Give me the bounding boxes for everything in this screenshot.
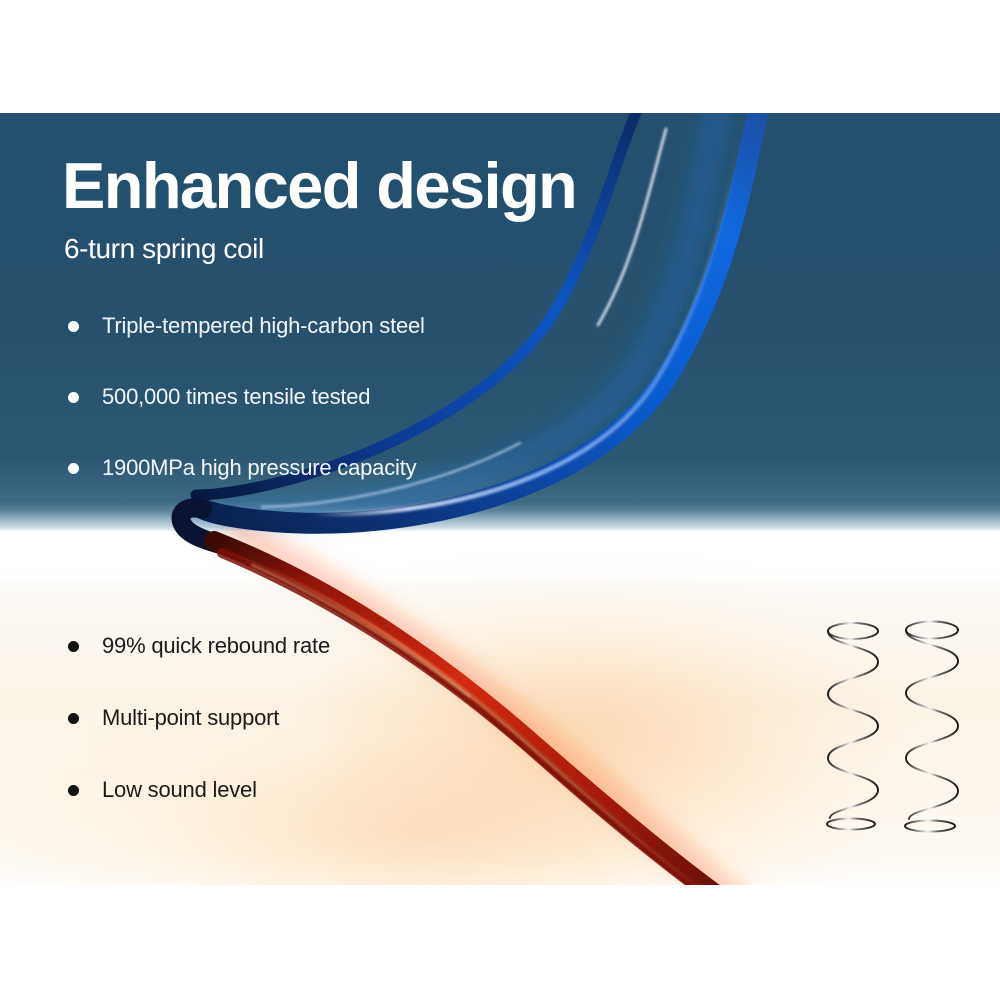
bullet-dot-icon <box>68 463 79 474</box>
poster-content-card: Enhanced design 6-turn spring coil Tripl… <box>0 113 1000 885</box>
bullet-dot-icon <box>68 713 79 724</box>
feature-label: 1900MPa high pressure capacity <box>102 455 416 480</box>
feature-label: Triple-tempered high-carbon steel <box>102 313 425 338</box>
feature-list-top: Triple-tempered high-carbon steel 500,00… <box>60 313 425 526</box>
feature-label: Multi-point support <box>102 705 279 730</box>
page-title: Enhanced design <box>62 153 576 218</box>
list-item: Triple-tempered high-carbon steel <box>60 313 425 339</box>
page-subtitle: 6-turn spring coil <box>64 233 264 265</box>
bullet-dot-icon <box>68 641 79 652</box>
feature-label: 500,000 times tensile tested <box>102 384 370 409</box>
list-item: 500,000 times tensile tested <box>60 384 425 410</box>
feature-label: 99% quick rebound rate <box>102 633 330 658</box>
feature-label: Low sound level <box>102 777 257 802</box>
list-item: 1900MPa high pressure capacity <box>60 455 425 481</box>
bullet-dot-icon <box>68 392 79 403</box>
list-item: 99% quick rebound rate <box>60 633 330 659</box>
list-item: Multi-point support <box>60 705 330 731</box>
list-item: Low sound level <box>60 777 330 803</box>
product-feature-poster: Enhanced design 6-turn spring coil Tripl… <box>0 0 1000 1000</box>
feature-list-bottom: 99% quick rebound rate Multi-point suppo… <box>60 633 330 849</box>
bullet-dot-icon <box>68 321 79 332</box>
bullet-dot-icon <box>68 785 79 796</box>
